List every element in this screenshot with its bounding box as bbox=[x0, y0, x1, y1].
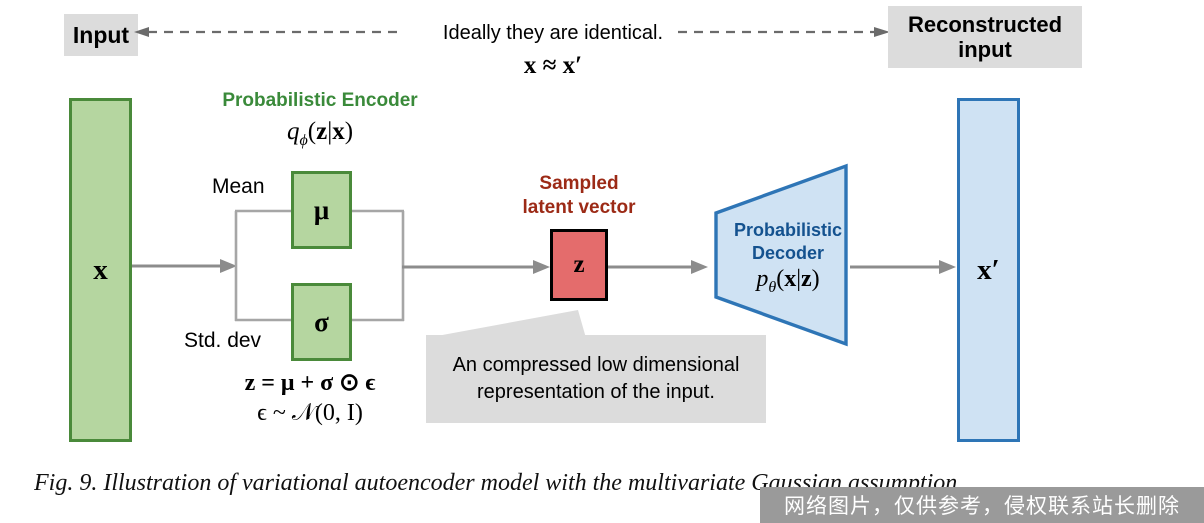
decoder-formula-args: (x|z) bbox=[776, 266, 819, 292]
decoder-formula-p: p bbox=[756, 266, 768, 292]
decoder-name-line2: Decoder bbox=[728, 242, 848, 265]
dashed-arrow-left-icon bbox=[132, 23, 400, 41]
input-label-box: Input bbox=[64, 14, 138, 56]
encoder-formula-args: (z|x) bbox=[308, 118, 353, 145]
decoder-shape: Probabilistic Decoder pθ(x|z) bbox=[710, 163, 852, 347]
dashed-arrow-right-icon bbox=[676, 23, 892, 41]
reconstructed-input-label-text: Reconstructed input bbox=[888, 12, 1082, 63]
encoder-to-z-arrow bbox=[402, 258, 554, 276]
decoder-formula: pθ(x|z) bbox=[728, 266, 848, 297]
input-vector-rect: x bbox=[69, 98, 132, 442]
epsilon-distribution-equation: ϵ ~ 𝒩(0, I) bbox=[170, 400, 450, 427]
sampled-latent-vector-title: Sampled latent vector bbox=[488, 172, 670, 220]
output-vector-rect: x′ bbox=[957, 98, 1020, 442]
mu-box: μ bbox=[291, 171, 352, 249]
decoder-formula-theta: θ bbox=[768, 279, 776, 296]
ideally-identical-text: Ideally they are identical. bbox=[418, 22, 688, 45]
mean-label: Mean bbox=[212, 175, 265, 199]
decoder-to-output-arrow bbox=[850, 258, 960, 276]
callout-tail-icon bbox=[426, 305, 606, 339]
mu-label: μ bbox=[314, 195, 329, 226]
latent-callout-box: An compressed low dimensional representa… bbox=[426, 335, 766, 423]
decoder-name: Probabilistic Decoder bbox=[728, 219, 848, 264]
encoder-split-connector bbox=[130, 200, 420, 335]
latent-vector-z-box: z bbox=[550, 229, 608, 301]
z-to-decoder-arrow bbox=[608, 258, 712, 276]
latent-callout-line1: An compressed low dimensional bbox=[453, 352, 740, 379]
latent-vector-z-label: z bbox=[573, 251, 584, 279]
reconstructed-input-label-box: Reconstructed input bbox=[888, 6, 1082, 68]
encoder-formula-q: q bbox=[287, 118, 300, 145]
sigma-label: σ bbox=[314, 307, 329, 338]
reparameterization-equation: z = μ + σ ⊙ ϵ bbox=[170, 368, 450, 397]
approx-equation: x ≈ x′ bbox=[418, 52, 688, 80]
latent-callout-line2: representation of the input. bbox=[453, 379, 740, 406]
input-vector-label: x bbox=[93, 254, 108, 287]
std-dev-label: Std. dev bbox=[184, 329, 261, 353]
encoder-formula: qϕ(z|x) bbox=[180, 118, 460, 150]
sampled-latent-line1: Sampled bbox=[488, 172, 670, 196]
input-label-text: Input bbox=[73, 22, 129, 48]
sampled-latent-line2: latent vector bbox=[488, 196, 670, 220]
decoder-name-line1: Probabilistic bbox=[728, 219, 848, 242]
output-vector-label: x′ bbox=[977, 254, 1000, 287]
watermark-banner: 网络图片，仅供参考，侵权联系站长删除 bbox=[760, 487, 1204, 523]
figure-canvas: Input Ideally they are identical. x ≈ x′… bbox=[0, 0, 1204, 523]
latent-callout-text: An compressed low dimensional representa… bbox=[453, 352, 740, 406]
encoder-title: Probabilistic Encoder bbox=[180, 90, 460, 112]
sigma-box: σ bbox=[291, 283, 352, 361]
encoder-formula-phi: ϕ bbox=[299, 132, 307, 149]
decoder-text-block: Probabilistic Decoder pθ(x|z) bbox=[728, 219, 848, 297]
